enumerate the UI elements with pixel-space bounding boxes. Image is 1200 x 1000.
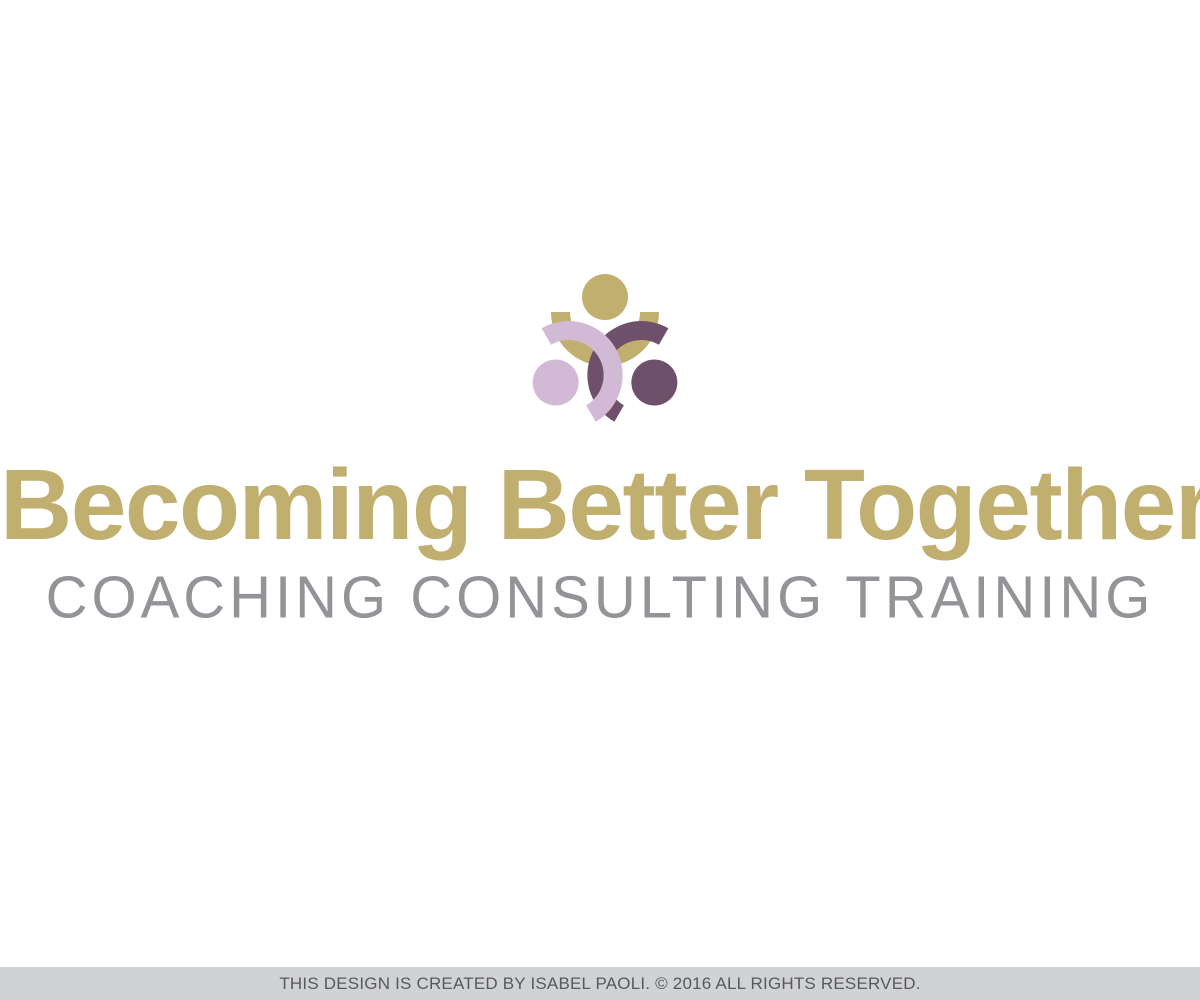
footer-credit-bar: THIS DESIGN IS CREATED BY ISABEL PAOLI. …: [0, 967, 1200, 1000]
logo-lockup: Becoming Better Together COACHING CONSUL…: [0, 0, 1200, 660]
logo-tagline: COACHING CONSULTING TRAINING: [0, 568, 1200, 628]
logo-mark: [523, 266, 687, 426]
logo-figure-lower-left: [568, 301, 687, 426]
logo-wordmark: Becoming Better Together: [0, 455, 1200, 555]
footer-credit-text: THIS DESIGN IS CREATED BY ISABEL PAOLI. …: [279, 974, 920, 994]
logo-figure-lower-right: [523, 301, 642, 426]
presentation-canvas: Becoming Better Together COACHING CONSUL…: [0, 0, 1200, 1000]
